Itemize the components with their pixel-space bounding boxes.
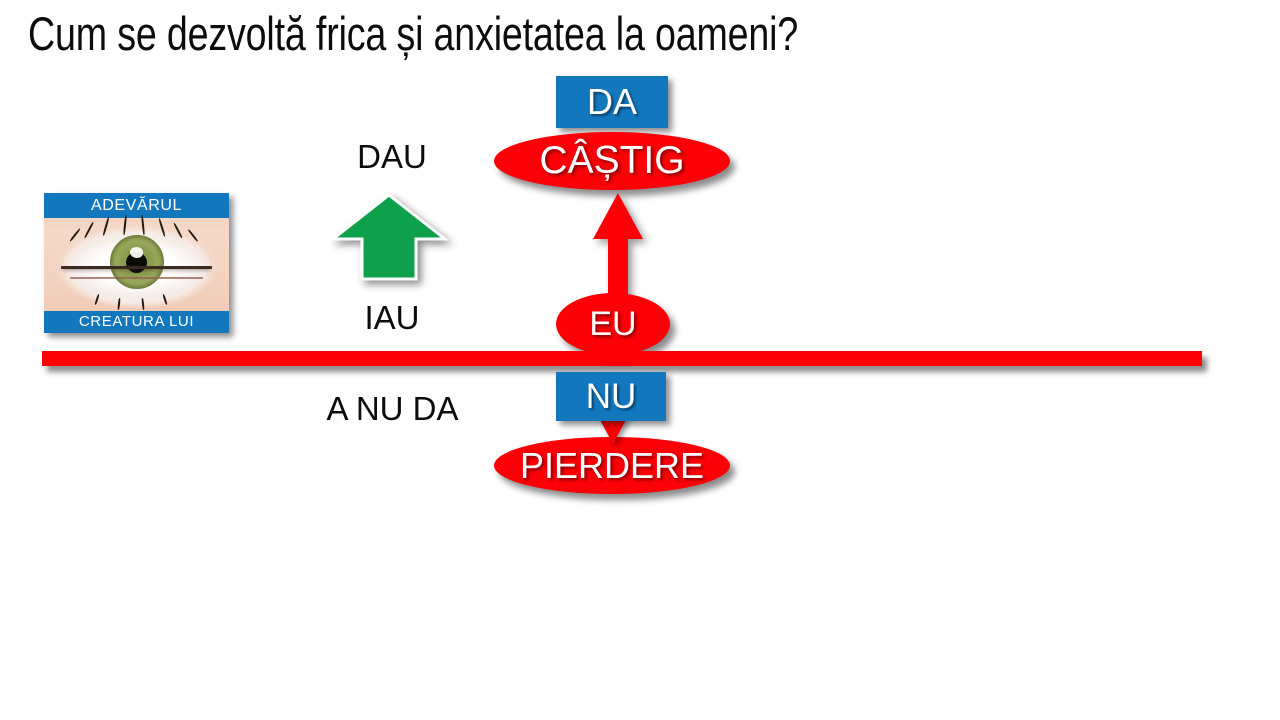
ellipse-castig: CÂȘTIG xyxy=(494,132,730,190)
red-up-arrow xyxy=(590,193,646,305)
box-nu: NU xyxy=(556,372,666,421)
ellipse-pierdere: PIERDERE xyxy=(494,437,730,494)
page-title: Cum se dezvoltă frica și anxietatea la o… xyxy=(28,6,798,62)
red-horizontal-line xyxy=(42,351,1202,366)
label-dau: DAU xyxy=(352,138,432,176)
label-a-nu-da: A NU DA xyxy=(315,390,470,428)
picture-top-banner: ADEVĂRUL xyxy=(44,193,229,218)
green-up-arrow xyxy=(330,192,448,282)
box-da: DA xyxy=(556,76,668,128)
slide-canvas: Cum se dezvoltă frica și anxietatea la o… xyxy=(0,0,1280,720)
ellipse-eu: EU xyxy=(556,293,670,355)
picture-bottom-banner: CREATURA LUI DUMNEZEU xyxy=(44,311,229,333)
eye-of-god-picture: ADEVĂRUL CREATURA LUI DUMNEZEU xyxy=(44,193,229,333)
label-iau: IAU xyxy=(352,299,432,337)
